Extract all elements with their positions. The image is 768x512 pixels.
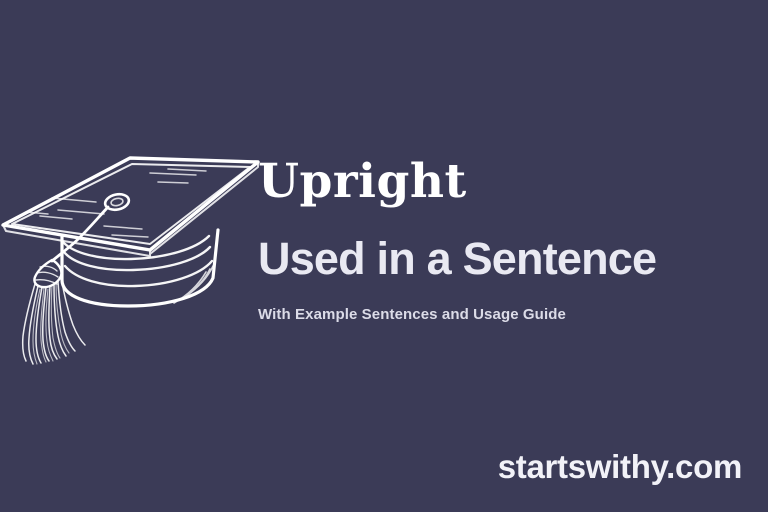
poster-text-block: Upright Used in a Sentence With Example …	[258, 158, 758, 324]
graduation-cap-icon	[0, 140, 270, 375]
page-title: Upright	[258, 158, 758, 205]
poster-canvas: Upright Used in a Sentence With Example …	[0, 0, 768, 512]
headline: Used in a Sentence	[258, 236, 758, 281]
brand-watermark: startswithy.com	[498, 448, 742, 486]
subtitle: With Example Sentences and Usage Guide	[258, 306, 758, 324]
